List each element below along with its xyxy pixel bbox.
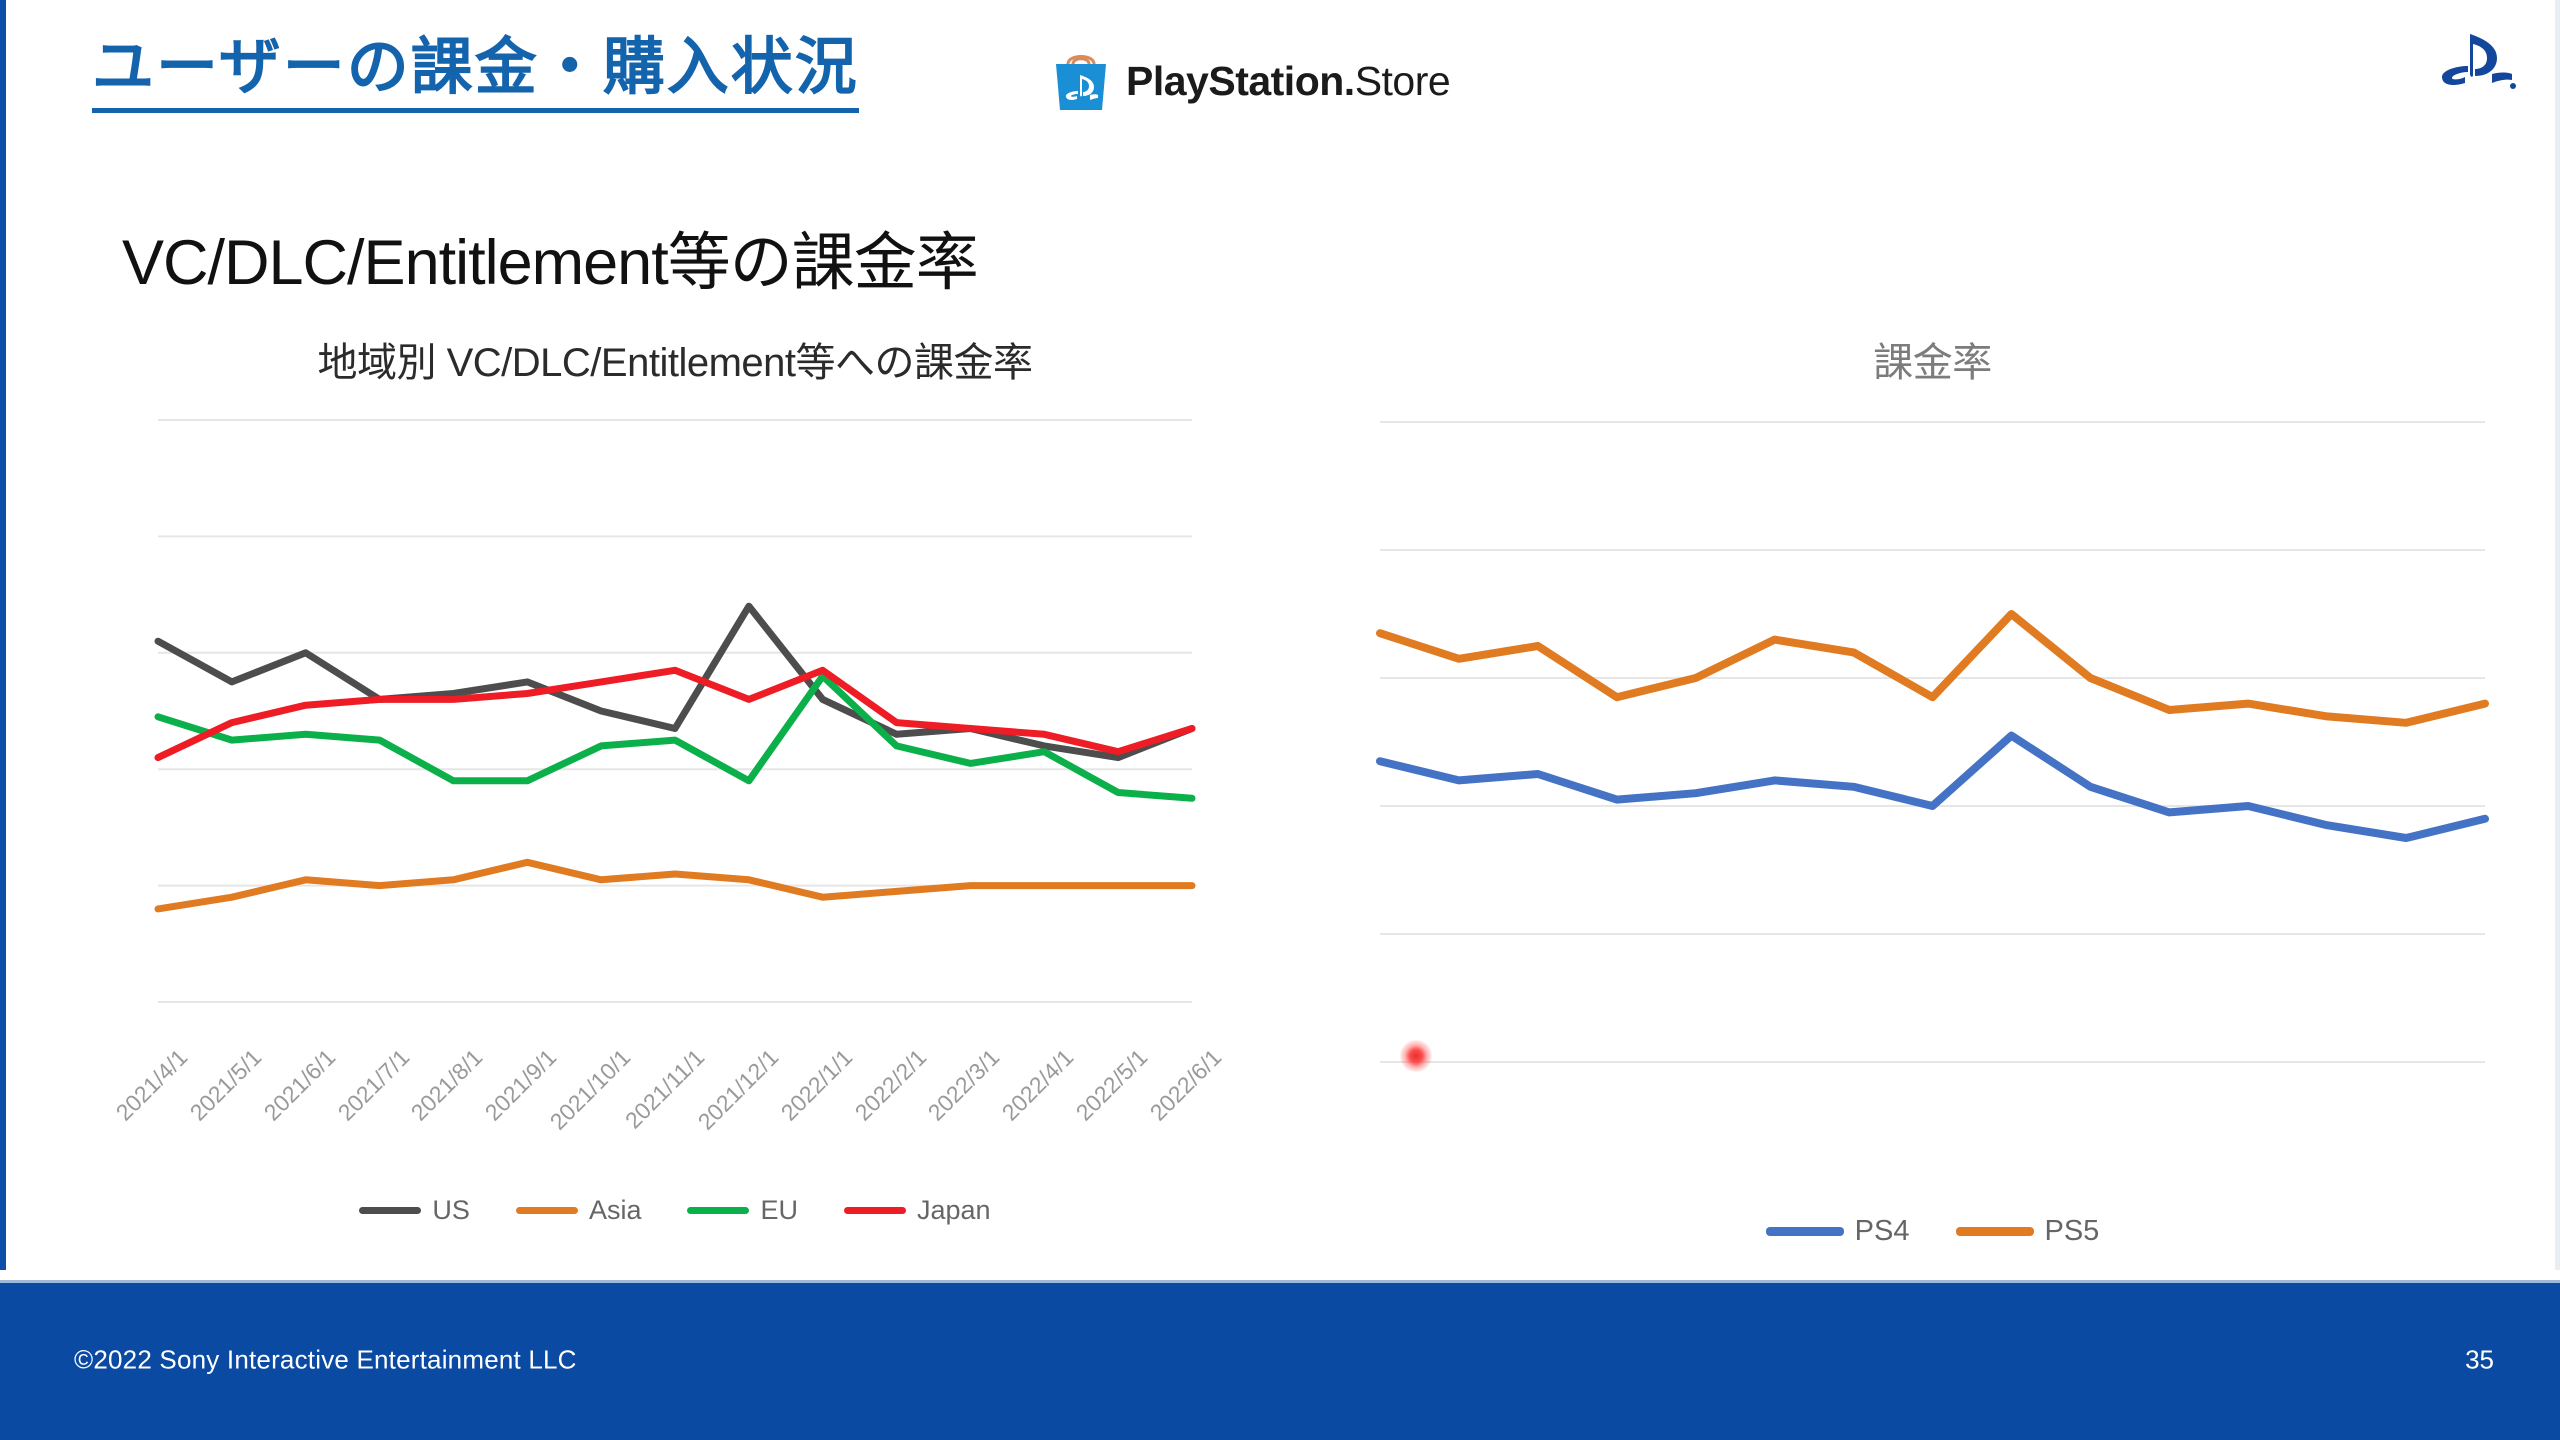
chart-left-x-axis-labels: 2021/4/12021/5/12021/6/12021/7/12021/8/1… [140, 1044, 1210, 1184]
shopping-bag-icon [1050, 48, 1112, 114]
x-axis-tick-label: 2021/12/1 [692, 1044, 783, 1135]
laser-pointer-dot [1400, 1040, 1432, 1072]
x-axis-tick-label: 2022/4/1 [997, 1044, 1079, 1126]
legend-item-ps5[interactable]: PS5 [1956, 1215, 2100, 1248]
chart-region-by-region: 地域別 VC/DLC/Entitlement等への課金率 2021/4/1202… [140, 330, 1210, 1270]
legend-label: Asia [589, 1195, 642, 1226]
legend-color-swatch [359, 1207, 421, 1214]
legend-item-eu[interactable]: EU [687, 1195, 798, 1226]
chart-right-plot [1370, 402, 2495, 1102]
x-axis-tick-label: 2022/6/1 [1145, 1044, 1227, 1126]
legend-item-us[interactable]: US [359, 1195, 470, 1226]
slide-left-accent-strip [0, 0, 6, 1270]
chart-right-title: 課金率 [1370, 330, 2495, 388]
chart-left-plot [140, 402, 1210, 1042]
chart-left-svg [140, 402, 1210, 1042]
x-axis-tick-label: 2021/10/1 [545, 1044, 636, 1135]
playstation-store-wordmark: PlayStation.Store [1126, 58, 1450, 105]
playstation-word: PlayStation [1126, 58, 1344, 104]
x-axis-tick-label: 2021/7/1 [332, 1044, 414, 1126]
footer-divider [0, 1280, 2560, 1283]
legend-color-swatch [1956, 1227, 2034, 1236]
page-number: 35 [2465, 1345, 2494, 1376]
legend-color-swatch [1766, 1227, 1844, 1236]
chart-left-title: 地域別 VC/DLC/Entitlement等への課金率 [140, 330, 1210, 388]
legend-color-swatch [516, 1207, 578, 1214]
chart-region-platform: 課金率 [1370, 330, 2495, 1270]
x-axis-tick-label: 2021/5/1 [185, 1044, 267, 1126]
legend-label: PS4 [1855, 1215, 1910, 1248]
slide-right-accent-strip [2555, 0, 2560, 1270]
footer-copyright: ©2022 Sony Interactive Entertainment LLC [74, 1345, 577, 1376]
legend-item-asia[interactable]: Asia [516, 1195, 642, 1226]
x-axis-tick-label: 2022/1/1 [775, 1044, 857, 1126]
x-axis-tick-label: 2021/6/1 [258, 1044, 340, 1126]
x-axis-tick-label: 2022/2/1 [849, 1044, 931, 1126]
slide-title: ユーザーの課金・購入状況 [92, 34, 859, 113]
playstation-logo-icon [2434, 28, 2520, 94]
x-axis-tick-label: 2022/3/1 [923, 1044, 1005, 1126]
store-word: Store [1355, 58, 1451, 104]
legend-label: Japan [917, 1195, 991, 1226]
legend-item-ps4[interactable]: PS4 [1766, 1215, 1910, 1248]
legend-item-japan[interactable]: Japan [844, 1195, 991, 1226]
legend-label: PS5 [2045, 1215, 2100, 1248]
chart-right-legend: PS4PS5 [1370, 1215, 2495, 1248]
x-axis-tick-label: 2021/4/1 [111, 1044, 193, 1126]
playstation-store-logo: PlayStation.Store [1050, 48, 1450, 114]
legend-label: US [432, 1195, 470, 1226]
x-axis-tick-label: 2022/5/1 [1071, 1044, 1153, 1126]
page-title: VC/DLC/Entitlement等の課金率 [122, 212, 978, 303]
x-axis-tick-label: 2021/8/1 [406, 1044, 488, 1126]
legend-color-swatch [844, 1207, 906, 1214]
legend-color-swatch [687, 1207, 749, 1214]
slide-footer: ©2022 Sony Interactive Entertainment LLC… [0, 1280, 2560, 1440]
chart-right-svg [1370, 402, 2495, 1102]
chart-left-legend: USAsiaEUJapan [140, 1195, 1210, 1226]
store-dot: . [1344, 58, 1355, 104]
legend-label: EU [760, 1195, 798, 1226]
